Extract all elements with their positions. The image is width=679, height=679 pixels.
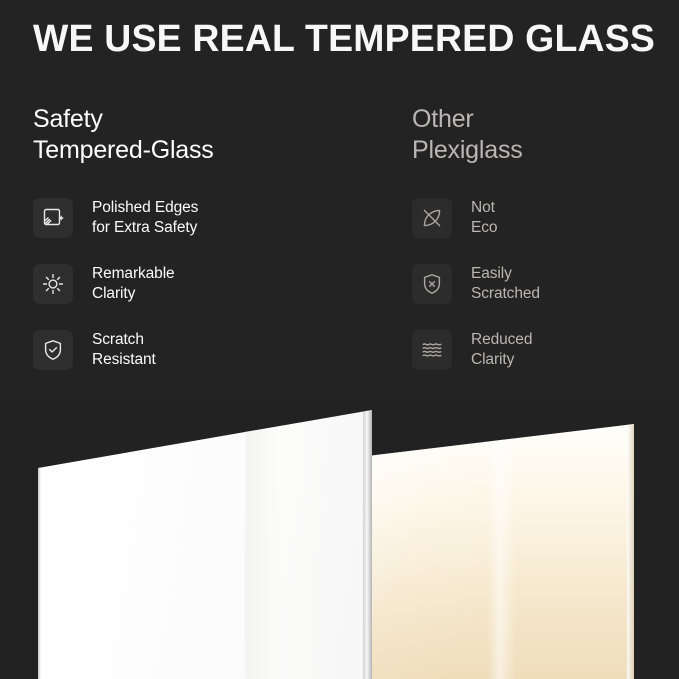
feature-label: Reduced Clarity — [471, 330, 532, 370]
comparison-columns: Safety Tempered-Glass Polished Edges for… — [0, 104, 679, 404]
feature-label: Scratch Resistant — [92, 330, 156, 370]
glass-top-bevel — [38, 398, 372, 421]
product-photo — [0, 398, 679, 679]
column-title-plexiglass: Other Plexiglass — [412, 104, 679, 166]
feature-label: Easily Scratched — [471, 264, 540, 304]
shield-x-icon — [412, 264, 452, 304]
glass-left-edge — [38, 410, 41, 679]
feature-remarkable-clarity: Remarkable Clarity — [33, 260, 333, 308]
page-title: WE USE REAL TEMPERED GLASS — [33, 17, 644, 61]
feature-scratch-resistant: Scratch Resistant — [33, 326, 333, 374]
feature-list-tempered-glass: Polished Edges for Extra Safety Remarkab… — [33, 194, 333, 374]
column-title-tempered-glass: Safety Tempered-Glass — [33, 104, 333, 166]
feature-label: Polished Edges for Extra Safety — [92, 198, 198, 238]
polished-edge-icon — [33, 198, 73, 238]
plexi-right-edge — [627, 424, 634, 679]
column-plexiglass: Other Plexiglass Not Eco — [412, 104, 679, 374]
feature-list-plexiglass: Not Eco Easily Scratched — [412, 194, 679, 374]
waves-icon — [412, 330, 452, 370]
column-tempered-glass: Safety Tempered-Glass Polished Edges for… — [33, 104, 333, 374]
feature-easily-scratched: Easily Scratched — [412, 260, 679, 308]
sun-clarity-icon — [33, 264, 73, 304]
plexi-sheen — [487, 424, 516, 679]
product-comparison-infographic: WE USE REAL TEMPERED GLASS Safety Temper… — [0, 0, 679, 679]
feature-label: Remarkable Clarity — [92, 264, 175, 304]
feature-reduced-clarity: Reduced Clarity — [412, 326, 679, 374]
feature-not-eco: Not Eco — [412, 194, 679, 242]
glass-right-edge — [363, 410, 372, 679]
glass-reflection-band — [245, 410, 332, 679]
feature-label: Not Eco — [471, 198, 497, 238]
leaf-slash-icon — [412, 198, 452, 238]
tempered-glass-panel — [38, 410, 372, 679]
plexiglass-panel — [372, 424, 634, 679]
shield-check-icon — [33, 330, 73, 370]
feature-polished-edges: Polished Edges for Extra Safety — [33, 194, 333, 242]
